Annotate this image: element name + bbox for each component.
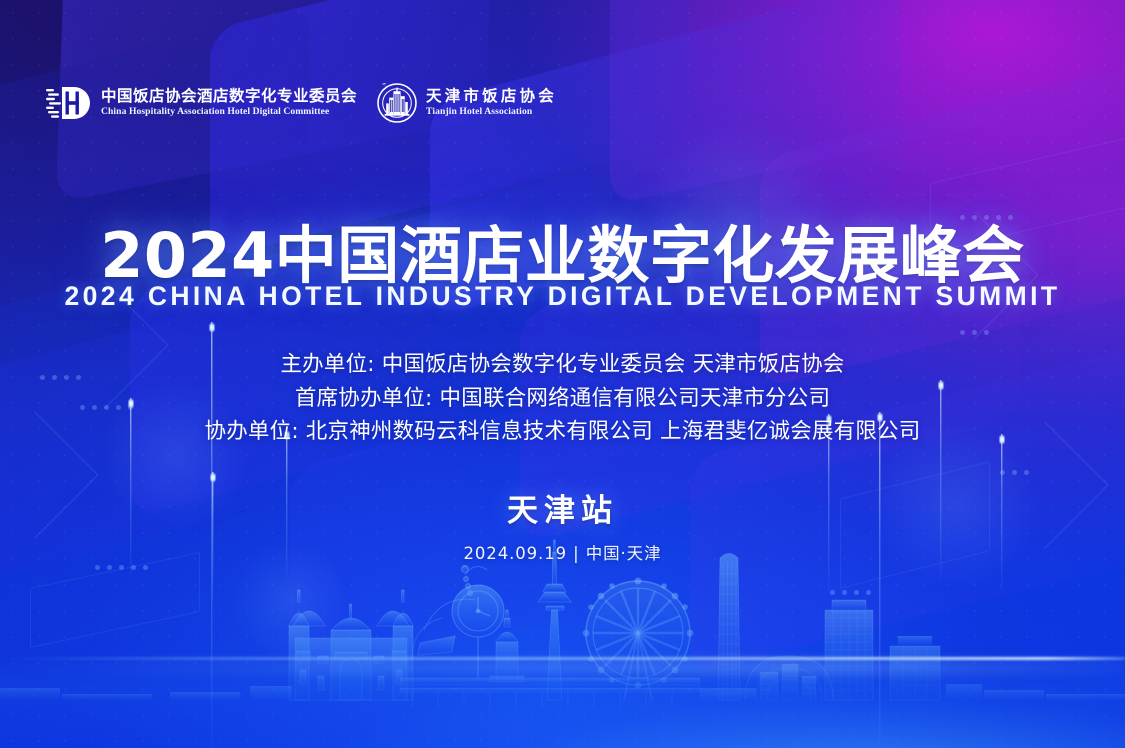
right-block-tower-icon bbox=[890, 636, 940, 700]
tianjin-ctf-finance-centre-icon bbox=[718, 554, 740, 701]
event-location-block: 天津站 2024.09.19 | 中国·天津 bbox=[0, 485, 1125, 564]
logo-name-cn: 天津市饭店协会 bbox=[426, 89, 557, 105]
cha-d-h-monogram-icon bbox=[46, 86, 92, 120]
organizer-line-chief-coorganizer: 首席协办单位: 中国联合网络通信有限公司天津市分公司 bbox=[0, 382, 1125, 416]
tianjin-tv-tower-icon bbox=[538, 540, 571, 700]
logo-bar: 中国饭店协会酒店数字化专业委员会 China Hospitality Assoc… bbox=[46, 83, 557, 123]
organizer-line-coorganizers: 协办单位: 北京神州数码云科信息技术有限公司 上海君斐亿诚会展有限公司 bbox=[0, 415, 1125, 449]
organizer-line-host: 主办单位: 中国饭店协会数字化专业委员会 天津市饭店协会 bbox=[0, 348, 1125, 382]
tianjin-hotel-association-seal-icon: 天津市饭店协会 Tianjin Hotel bbox=[377, 83, 417, 123]
logo-tianjin-hotel-association: 天津市饭店协会 Tianjin Hotel 天津市饭店协会 Tianjin Ho… bbox=[377, 83, 557, 123]
dot-row bbox=[1000, 470, 1029, 475]
logo-name-en: Tianjin Hotel Association bbox=[426, 107, 557, 117]
logo-text-block: 中国饭店协会酒店数字化专业委员会 China Hospitality Assoc… bbox=[101, 89, 357, 117]
jinta-office-tower-icon bbox=[825, 600, 873, 700]
summit-poster: 中国饭店协会酒店数字化专业委员会 China Hospitality Assoc… bbox=[0, 0, 1125, 748]
event-date-location: 2024.09.19 | 中国·天津 bbox=[0, 540, 1125, 564]
logo-name-en: China Hospitality Association Hotel Digi… bbox=[101, 107, 357, 117]
xikai-church-icon bbox=[289, 590, 413, 700]
page-title-en: 2024 CHINA HOTEL INDUSTRY DIGITAL DEVELO… bbox=[0, 281, 1125, 312]
tianjin-century-clock-icon bbox=[412, 566, 504, 678]
organizer-block: 主办单位: 中国饭店协会数字化专业委员会 天津市饭店协会 首席协办单位: 中国联… bbox=[0, 348, 1125, 449]
logo-text-block: 天津市饭店协会 Tianjin Hotel Association bbox=[426, 89, 557, 117]
logo-name-cn: 中国饭店协会酒店数字化专业委员会 bbox=[101, 89, 357, 105]
logo-china-hospitality-association: 中国饭店协会酒店数字化专业委员会 China Hospitality Assoc… bbox=[46, 86, 357, 120]
event-station-name: 天津站 bbox=[0, 485, 1125, 530]
dot-row bbox=[960, 330, 989, 335]
